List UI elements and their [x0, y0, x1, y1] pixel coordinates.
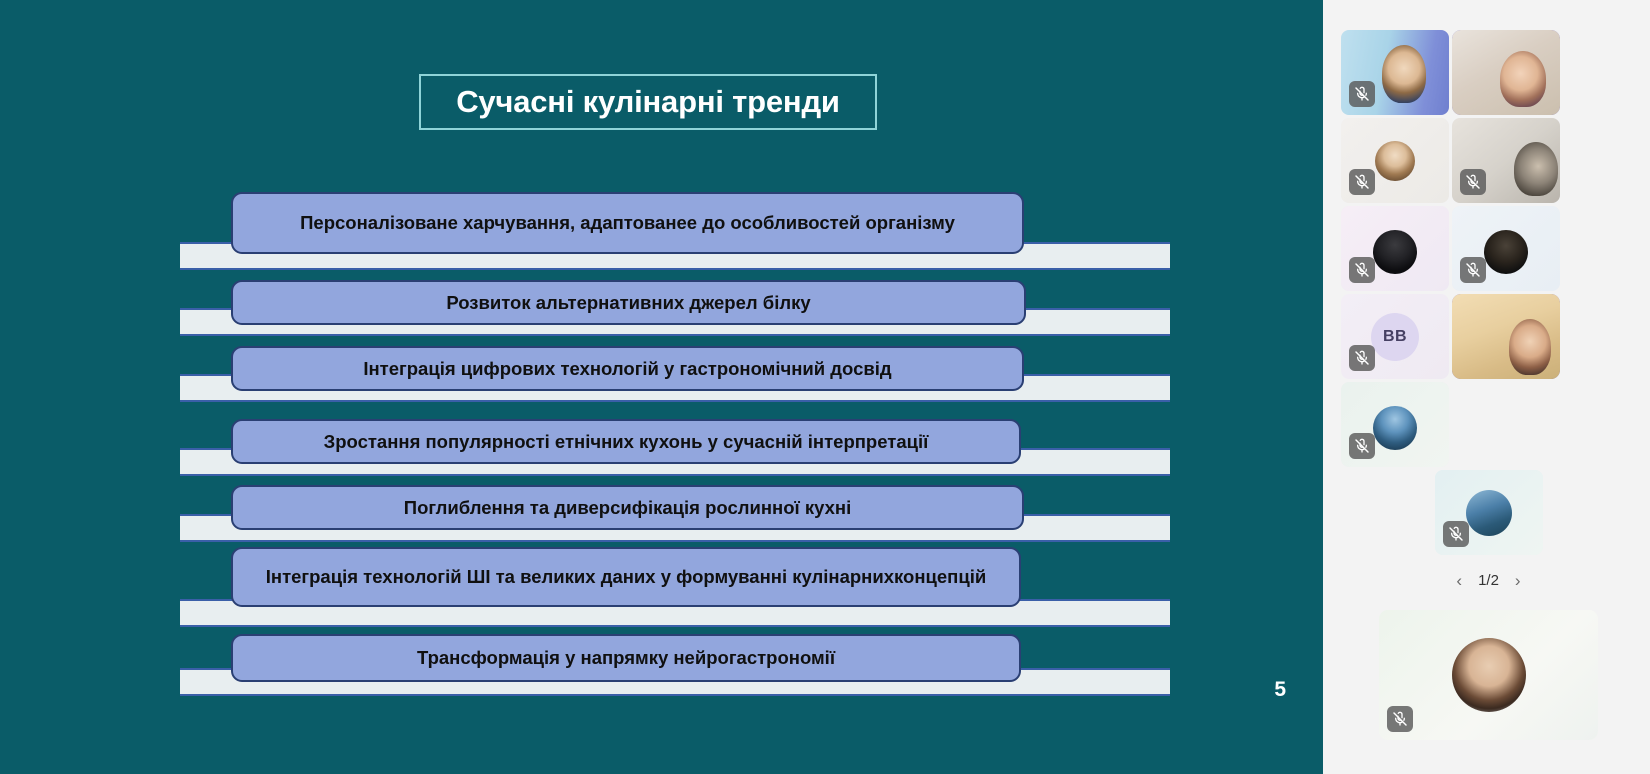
slide-item-box: Зростання популярності етнічних кухонь у… [231, 419, 1021, 464]
mic-muted-icon [1460, 169, 1486, 195]
participant-tile[interactable] [1452, 294, 1560, 379]
participant-sidebar: BB ‹ 1/2 › [1323, 0, 1650, 774]
mic-off-glyph [1392, 711, 1408, 727]
mic-off-glyph [1465, 174, 1481, 190]
mic-muted-icon [1349, 345, 1375, 371]
participant-tile[interactable] [1452, 118, 1560, 203]
avatar [1509, 319, 1551, 375]
avatar [1466, 490, 1512, 536]
mic-off-glyph [1354, 438, 1370, 454]
participant-tile[interactable]: BB [1341, 294, 1449, 379]
mic-off-glyph [1354, 262, 1370, 278]
avatar [1484, 230, 1528, 274]
mic-off-glyph [1448, 526, 1464, 542]
slide-item-box: Розвиток альтернативних джерел білку [231, 280, 1026, 325]
mic-muted-icon [1460, 257, 1486, 283]
mic-muted-icon [1387, 706, 1413, 732]
participant-grid: BB [1341, 30, 1640, 467]
participant-tile[interactable] [1341, 118, 1449, 203]
avatar [1452, 638, 1526, 712]
participant-extra-row [1337, 470, 1640, 555]
meeting-screen: Сучасні кулінарні тренди Персоналізоване… [0, 0, 1650, 774]
participant-tile[interactable] [1341, 206, 1449, 291]
slide-item-box: Поглиблення та диверсифікація рослинної … [231, 485, 1024, 530]
avatar [1500, 51, 1546, 107]
avatar [1373, 406, 1417, 450]
mic-muted-icon [1349, 81, 1375, 107]
slide-number: 5 [1274, 678, 1286, 702]
presenter-tile[interactable] [1379, 610, 1598, 740]
slide-item-box: Інтеграція цифрових технологій у гастрон… [231, 346, 1024, 391]
participant-tile[interactable] [1341, 382, 1449, 467]
avatar [1373, 230, 1417, 274]
avatar [1514, 142, 1558, 196]
avatar [1375, 141, 1415, 181]
mic-off-glyph [1354, 86, 1370, 102]
participant-tile[interactable] [1435, 470, 1543, 555]
chevron-left-icon[interactable]: ‹ [1456, 572, 1462, 589]
mic-off-glyph [1354, 350, 1370, 366]
slide-item-box: Інтеграція технологій ШІ та великих дани… [231, 547, 1021, 607]
page-title: Сучасні кулінарні тренди [456, 84, 840, 120]
mic-muted-icon [1443, 521, 1469, 547]
slide-title-box: Сучасні кулінарні тренди [419, 74, 877, 130]
mic-muted-icon [1349, 257, 1375, 283]
shared-slide: Сучасні кулінарні тренди Персоналізоване… [0, 0, 1323, 774]
participant-tile[interactable] [1341, 30, 1449, 115]
chevron-right-icon[interactable]: › [1515, 572, 1521, 589]
participant-tile[interactable] [1452, 30, 1560, 115]
participant-tile[interactable] [1452, 206, 1560, 291]
mic-off-glyph [1465, 262, 1481, 278]
avatar [1382, 45, 1426, 103]
slide-item-box: Персоналізоване харчування, адаптованеe … [231, 192, 1024, 254]
slide-item-box: Трансформація у напрямку нейрогастрономі… [231, 634, 1021, 682]
avatar-initials: BB [1371, 313, 1419, 361]
mic-muted-icon [1349, 433, 1375, 459]
mic-off-glyph [1354, 174, 1370, 190]
page-indicator: 1/2 [1478, 572, 1499, 589]
mic-muted-icon [1349, 169, 1375, 195]
pagination-control: ‹ 1/2 › [1337, 567, 1640, 593]
